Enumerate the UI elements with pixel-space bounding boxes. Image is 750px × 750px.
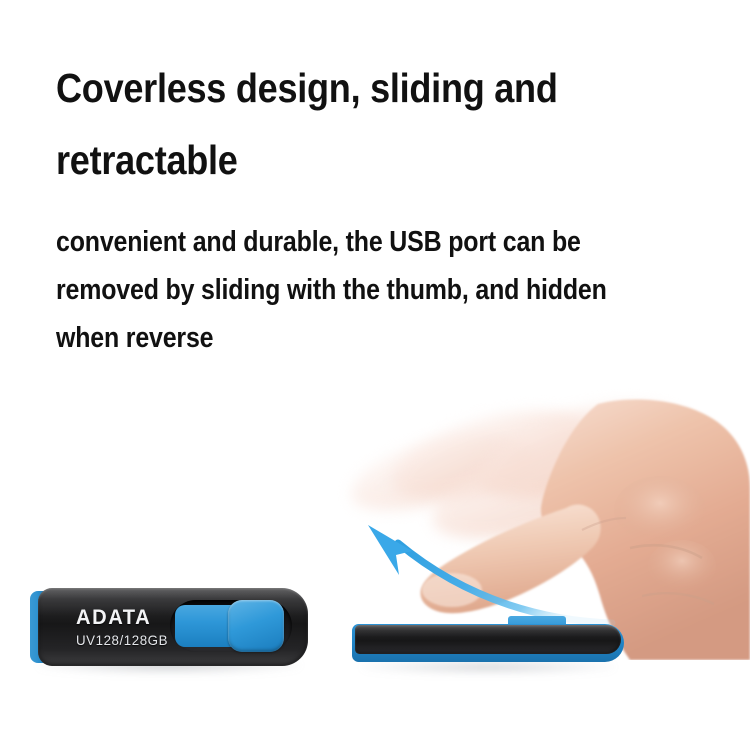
slider-thumb-knob[interactable] <box>228 600 284 652</box>
product-marketing-image: Coverless design, sliding and retractabl… <box>0 0 750 750</box>
product-photo-stage: ADATA UV128/128GB <box>0 390 750 750</box>
headline-line-1: Coverless design, sliding and <box>56 52 646 124</box>
usb-drive-side-view <box>352 616 624 668</box>
body-line-2: removed by sliding with the thumb, and h… <box>56 266 632 314</box>
marketing-copy: Coverless design, sliding and retractabl… <box>56 52 726 362</box>
brand-label: ADATA <box>76 606 151 630</box>
usb-drive-front-view: ADATA UV128/128GB <box>30 586 308 668</box>
drive-body <box>355 625 621 654</box>
model-label: UV128/128GB <box>76 632 168 648</box>
body-copy: convenient and durable, the USB port can… <box>56 218 726 362</box>
body-line-3: when reverse <box>56 314 632 362</box>
body-line-1: convenient and durable, the USB port can… <box>56 218 632 266</box>
drive-shadow <box>362 660 614 674</box>
headline-line-2: retractable <box>56 124 646 196</box>
